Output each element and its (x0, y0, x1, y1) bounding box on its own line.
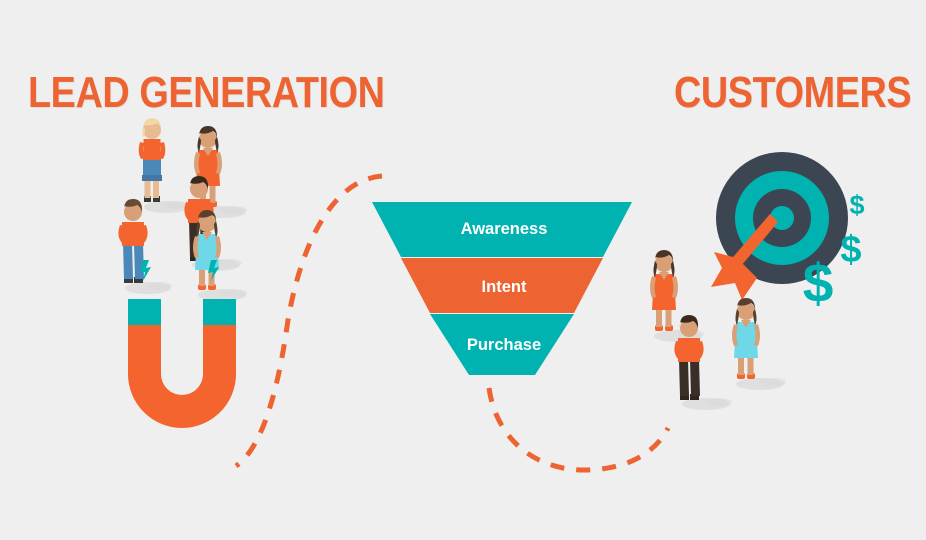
infographic-canvas: LEAD GENERATION CUSTOMERS (0, 0, 926, 540)
customer-people-group (0, 0, 926, 540)
list-item (732, 298, 786, 390)
list-item (674, 315, 732, 410)
